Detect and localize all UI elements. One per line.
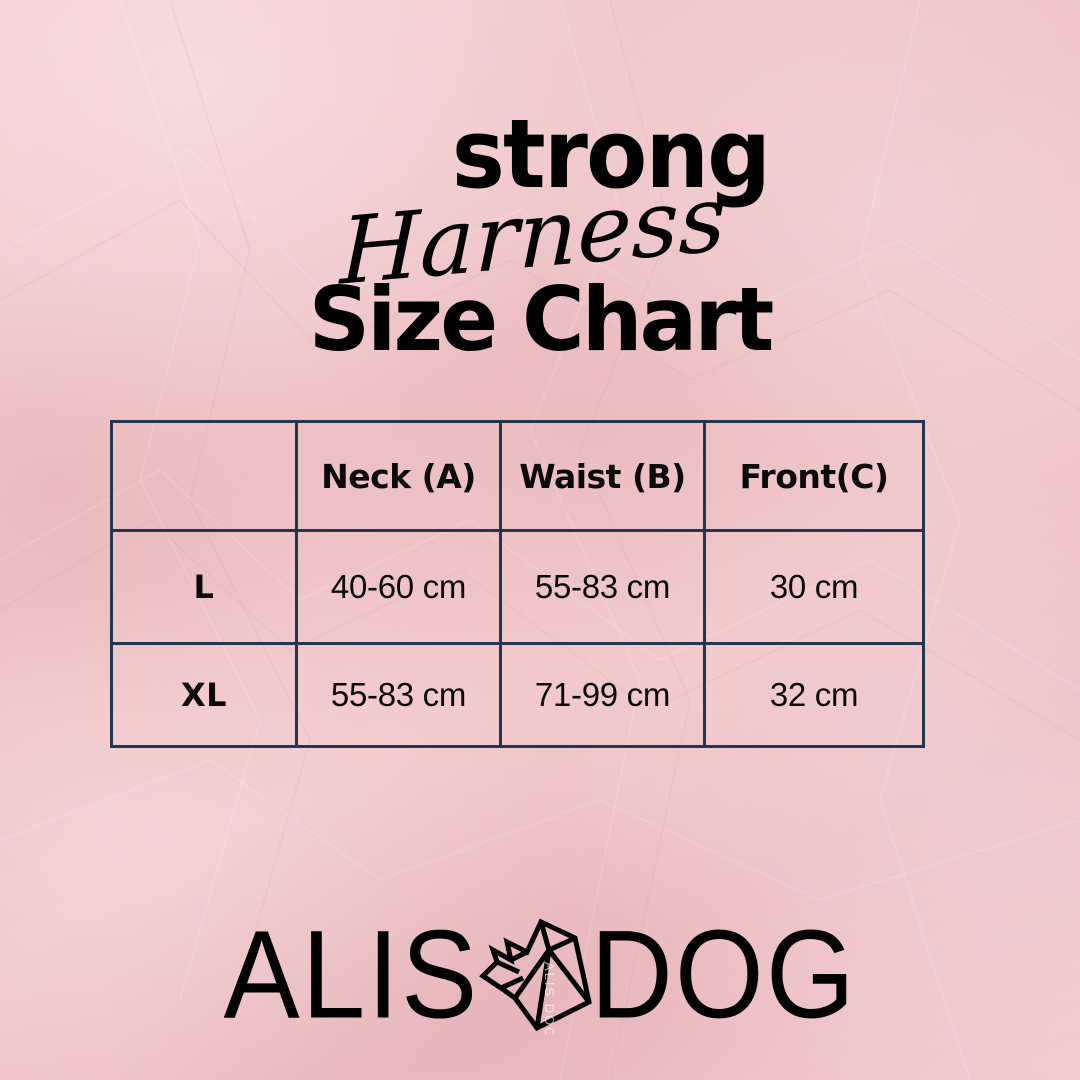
brand-word-alis: ALIS [224, 912, 480, 1037]
table-row: XL 55-83 cm 71-99 cm 32 cm [112, 644, 924, 747]
cell-waist: 71-99 cm [501, 644, 705, 747]
cell-neck: 55-83 cm [297, 644, 501, 747]
header-cell-neck: Neck (A) [297, 422, 501, 531]
cell-waist: 55-83 cm [501, 531, 705, 644]
brand-logo: ALIS ALIS DOG DOG [0, 915, 1080, 1035]
size-chart-table: Neck (A) Waist (B) Front(C) L 40-60 cm 5… [110, 420, 925, 748]
header-cell-size [112, 422, 297, 531]
cell-front: 30 cm [705, 531, 924, 644]
header-label-waist: Waist (B) [519, 457, 686, 496]
cell-size: L [112, 531, 297, 644]
size-label: XL [181, 676, 227, 714]
cell-front: 32 cm [705, 644, 924, 747]
table-row: L 40-60 cm 55-83 cm 30 cm [112, 531, 924, 644]
brand-word-dog: DOG [590, 912, 856, 1037]
header-label-neck: Neck (A) [321, 457, 476, 496]
dog-mark-inner-text: ALIS DOG [542, 962, 557, 1034]
title-block: strong Harness Size Chart [0, 108, 1080, 378]
cell-neck: 40-60 cm [297, 531, 501, 644]
header-label-front: Front(C) [739, 457, 888, 496]
measure-waist: 71-99 cm [535, 676, 670, 713]
size-label: L [194, 568, 215, 606]
cell-size: XL [112, 644, 297, 747]
measure-front: 32 cm [770, 676, 858, 713]
measure-neck: 55-83 cm [331, 676, 466, 713]
measure-neck: 40-60 cm [331, 568, 466, 605]
header-cell-front: Front(C) [705, 422, 924, 531]
measure-waist: 55-83 cm [535, 568, 670, 605]
title-script-harness: Harness [0, 186, 1080, 300]
table-header-row: Neck (A) Waist (B) Front(C) [112, 422, 924, 531]
header-cell-waist: Waist (B) [501, 422, 705, 531]
measure-front: 30 cm [770, 568, 858, 605]
dog-head-icon: ALIS DOG [471, 916, 599, 1034]
